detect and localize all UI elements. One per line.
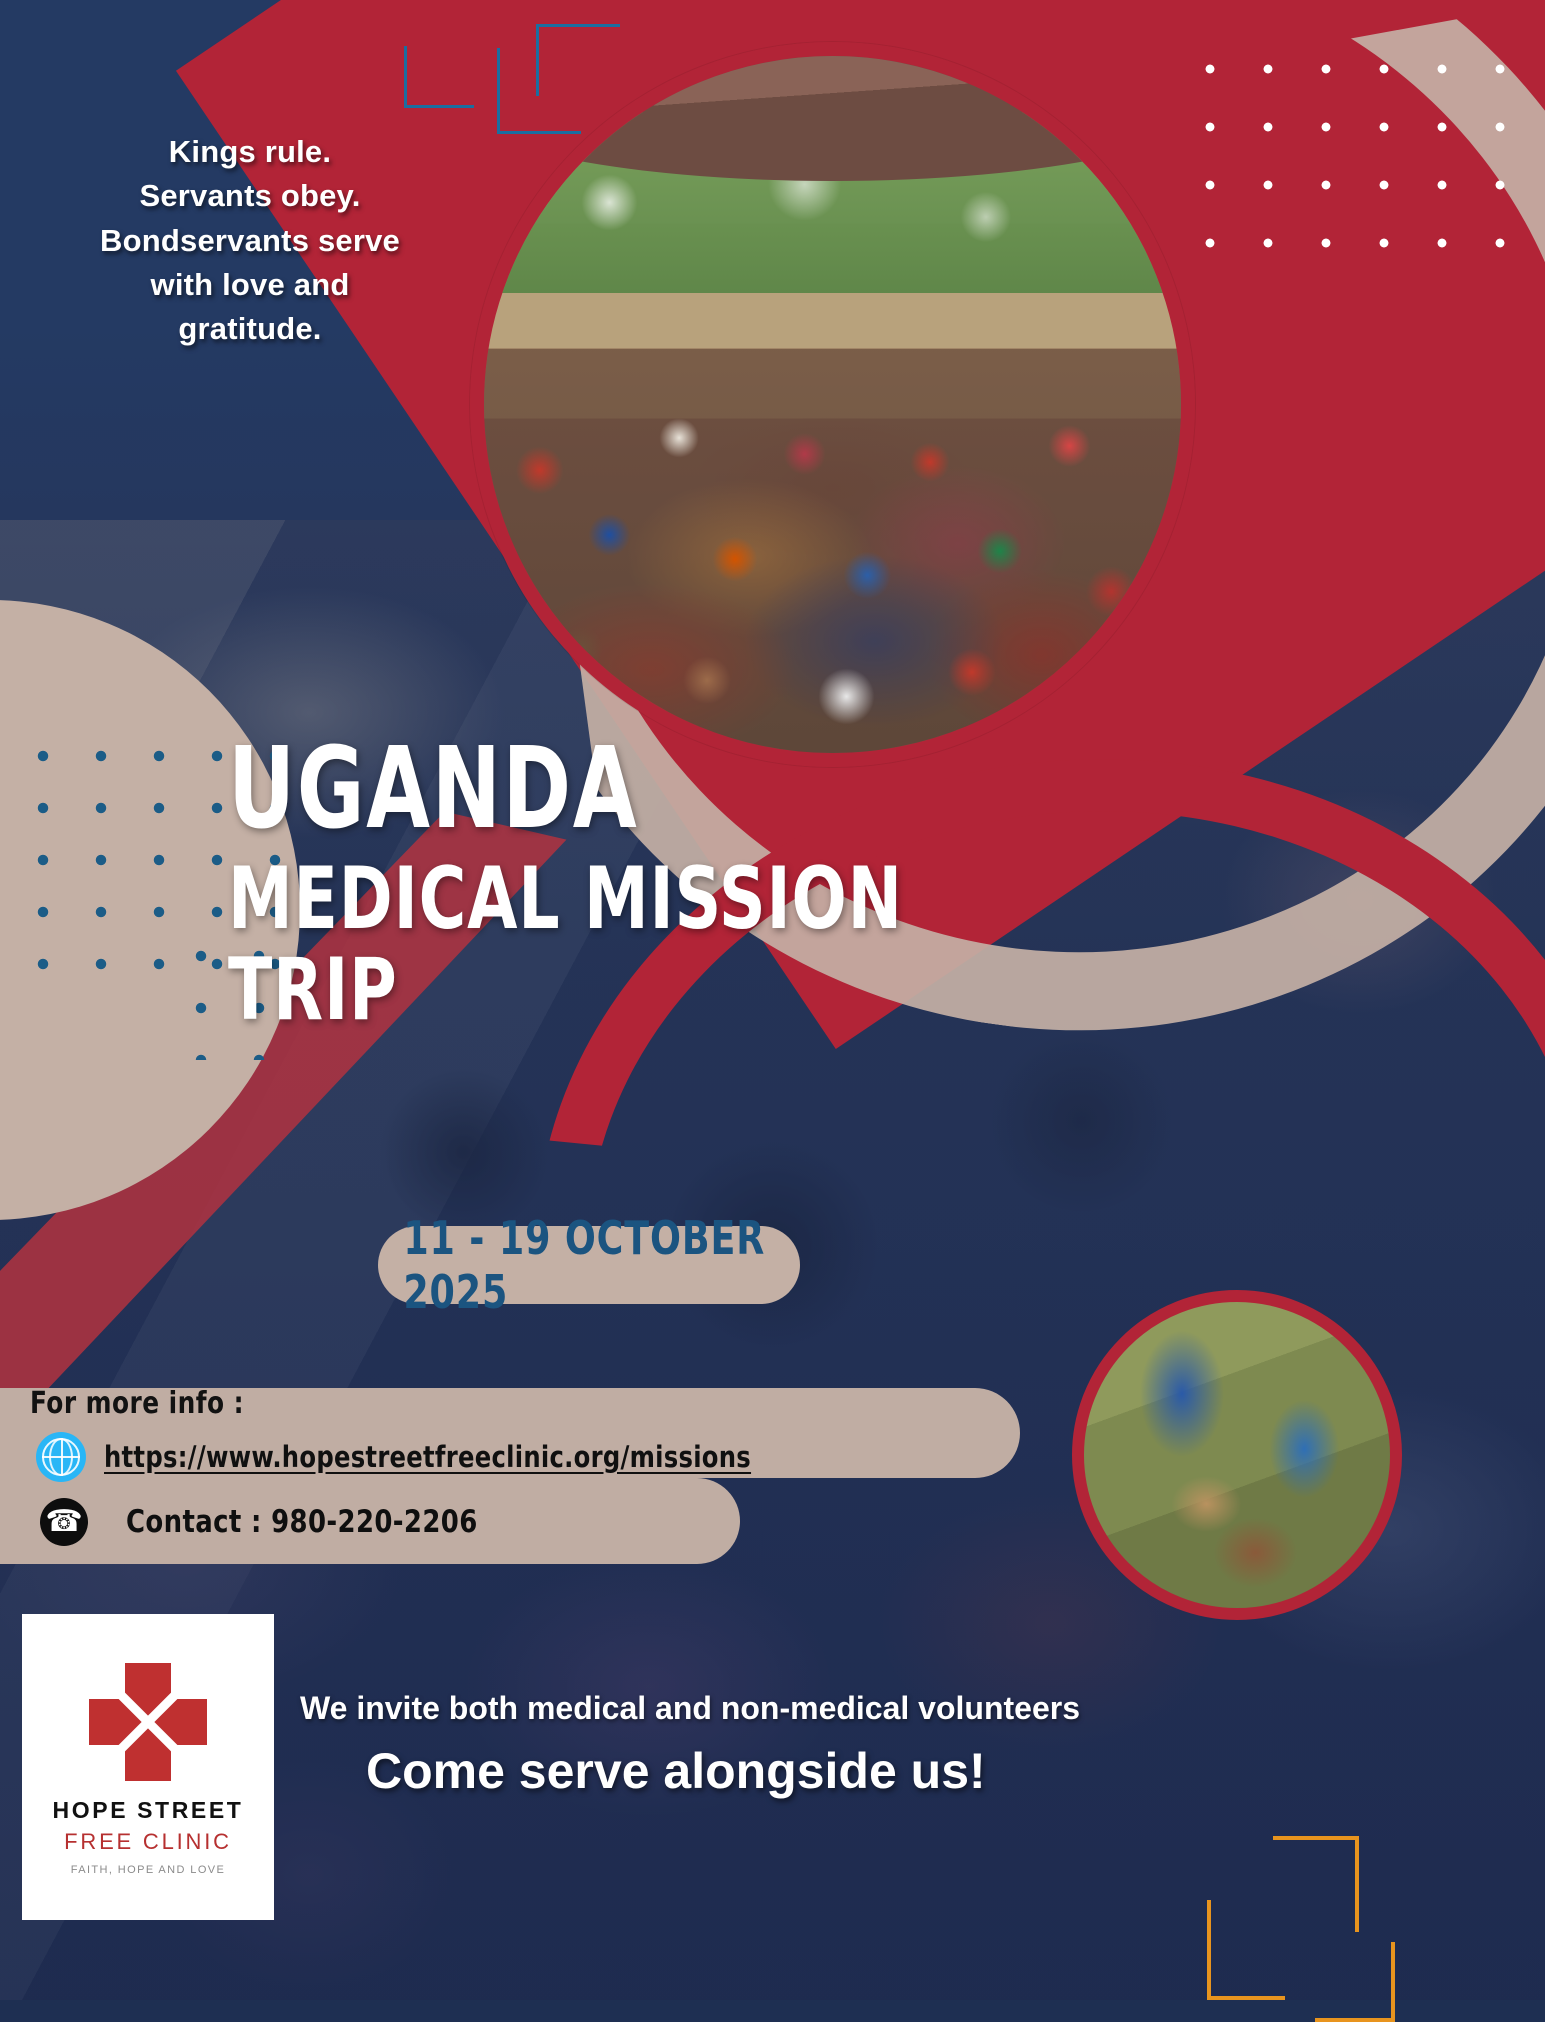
blue-bracket-icon-3 [404, 46, 474, 108]
info-url-row[interactable]: https://www.hopestreetfreeclinic.org/mis… [36, 1432, 800, 1482]
date-text: 11 - 19 OCTOBER 2025 [403, 1211, 774, 1319]
verse-line-5: gratitude. [40, 307, 460, 351]
page-subtitle: MEDICAL MISSION TRIP [228, 854, 1068, 1036]
contact-phone[interactable]: Contact : 980-220-2206 [126, 1504, 478, 1540]
cta-line-1: We invite both medical and non-medical v… [300, 1690, 1300, 1727]
verse-line-4: with love and [40, 263, 460, 307]
page-title: UGANDA [228, 736, 1048, 844]
orange-bracket-icon-1 [1273, 1836, 1359, 1932]
verse-line-1: Kings rule. [40, 130, 460, 174]
website-link[interactable]: https://www.hopestreetfreeclinic.org/mis… [104, 1440, 751, 1474]
logo-tagline: FAITH, HOPE AND LOVE [71, 1864, 226, 1876]
orange-bracket-icon-2 [1207, 1900, 1285, 2000]
info-phone-row[interactable]: ☎ Contact : 980-220-2206 [40, 1498, 504, 1546]
logo-name-line2: FREE CLINIC [64, 1829, 232, 1855]
date-badge: 11 - 19 OCTOBER 2025 [378, 1226, 800, 1304]
globe-icon [36, 1432, 86, 1482]
white-dot-grid [1181, 40, 1531, 260]
title-block: UGANDA MEDICAL MISSION TRIP [228, 736, 1228, 1036]
photo-circle-crowd [470, 42, 1195, 767]
photo-circle-clinic [1072, 1290, 1402, 1620]
phone-icon: ☎ [40, 1498, 88, 1546]
verse-line-3: Bondservants serve [40, 219, 460, 263]
photo-tent-layer [470, 42, 1195, 181]
orange-bracket-icon-3 [1315, 1942, 1395, 2022]
logo-name-line1: HOPE STREET [53, 1797, 244, 1824]
verse-line-2: Servants obey. [40, 174, 460, 218]
globe-icon-equator [42, 1456, 80, 1458]
logo-card: HOPE STREET FREE CLINIC FAITH, HOPE AND … [22, 1614, 274, 1920]
cta-line-2: Come serve alongside us! [366, 1742, 1366, 1800]
verse-text: Kings rule. Servants obey. Bondservants … [40, 130, 460, 352]
globe-icon-meridian [49, 1438, 73, 1476]
info-heading: For more info : [30, 1386, 244, 1421]
red-cross-icon [89, 1663, 207, 1781]
photo-crowd-layer [484, 349, 1181, 753]
